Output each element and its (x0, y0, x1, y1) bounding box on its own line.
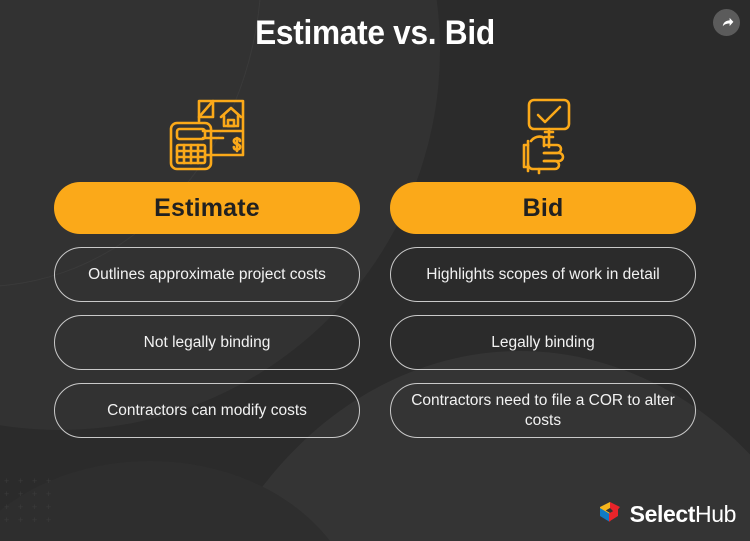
pill-list-bid: Highlights scopes of work in detail Lega… (390, 247, 696, 438)
list-item: Not legally binding (54, 315, 360, 370)
page-title: Estimate vs. Bid (26, 14, 724, 53)
infographic-canvas: ++++++++++++++++ Estimate vs. Bid (0, 0, 750, 541)
brand-logo[interactable]: SelectHub (598, 500, 736, 529)
brand-name-light: Hub (695, 501, 736, 527)
list-item: Legally binding (390, 315, 696, 370)
brand-name-bold: Select (630, 501, 695, 527)
selecthub-cube-icon (598, 500, 622, 529)
list-item: Contractors can modify costs (54, 383, 360, 438)
column-header-estimate[interactable]: Estimate (54, 182, 360, 234)
column-header-bid[interactable]: Bid (390, 182, 696, 234)
background-swoosh-bottom-left (0, 461, 360, 541)
list-item: Outlines approximate project costs (54, 247, 360, 302)
share-arrow-icon[interactable] (713, 9, 740, 36)
dot-grid-decoration: ++++++++++++++++ (4, 477, 64, 523)
column-estimate: Estimate Outlines approximate project co… (54, 86, 360, 438)
list-item: Highlights scopes of work in detail (390, 247, 696, 302)
column-bid: Bid Highlights scopes of work in detail … (390, 86, 696, 438)
hand-holding-checkmark-paddle-icon (503, 86, 583, 182)
comparison-columns: Estimate Outlines approximate project co… (0, 86, 750, 438)
calculator-document-house-dollar-icon (165, 86, 249, 182)
pill-list-estimate: Outlines approximate project costs Not l… (54, 247, 360, 438)
list-item: Contractors need to file a COR to alter … (390, 383, 696, 438)
brand-name: SelectHub (630, 501, 736, 528)
